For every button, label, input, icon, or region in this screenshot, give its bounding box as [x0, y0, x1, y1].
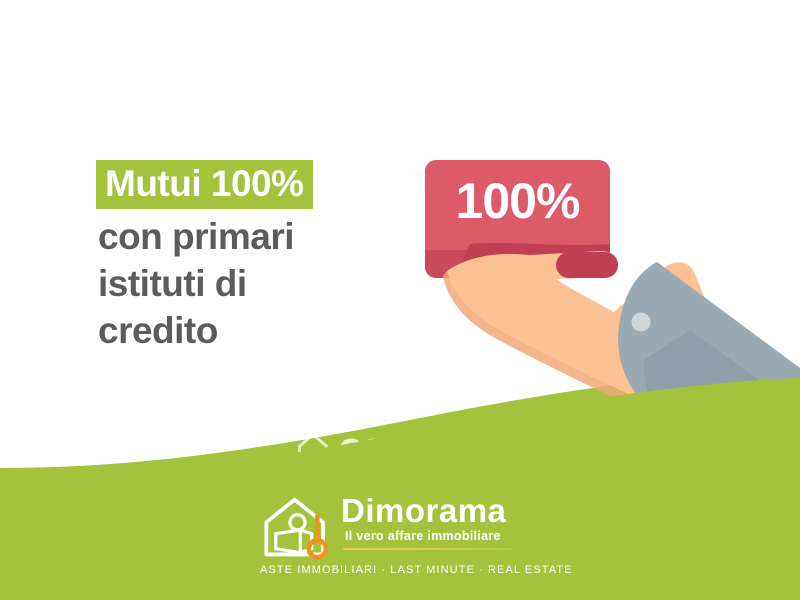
headline-line-3: credito	[98, 308, 416, 355]
promo-banner: casa.it Mutui 100%	[0, 0, 800, 600]
logo-divider	[343, 548, 513, 550]
cuff-button-icon	[632, 313, 651, 332]
logo-tagline: Il vero affare immobiliare	[345, 530, 501, 543]
logo-wordmark: Dimorama	[341, 494, 506, 527]
dimorama-house-icon	[255, 494, 340, 562]
headline-line-1: con primari	[98, 214, 416, 261]
headline-block: Mutui 100% con primari istituti di credi…	[96, 160, 416, 355]
logo-subline: ASTE IMMOBILIARI · LAST MINUTE · REAL ES…	[260, 564, 573, 576]
headline-highlight: Mutui 100%	[96, 160, 313, 209]
headline-line-2: istituti di	[98, 261, 416, 308]
dimorama-logo: Dimorama Il vero affare immobiliare ASTE…	[255, 492, 555, 587]
headline-lines: con primari istituti di credito	[96, 214, 416, 355]
